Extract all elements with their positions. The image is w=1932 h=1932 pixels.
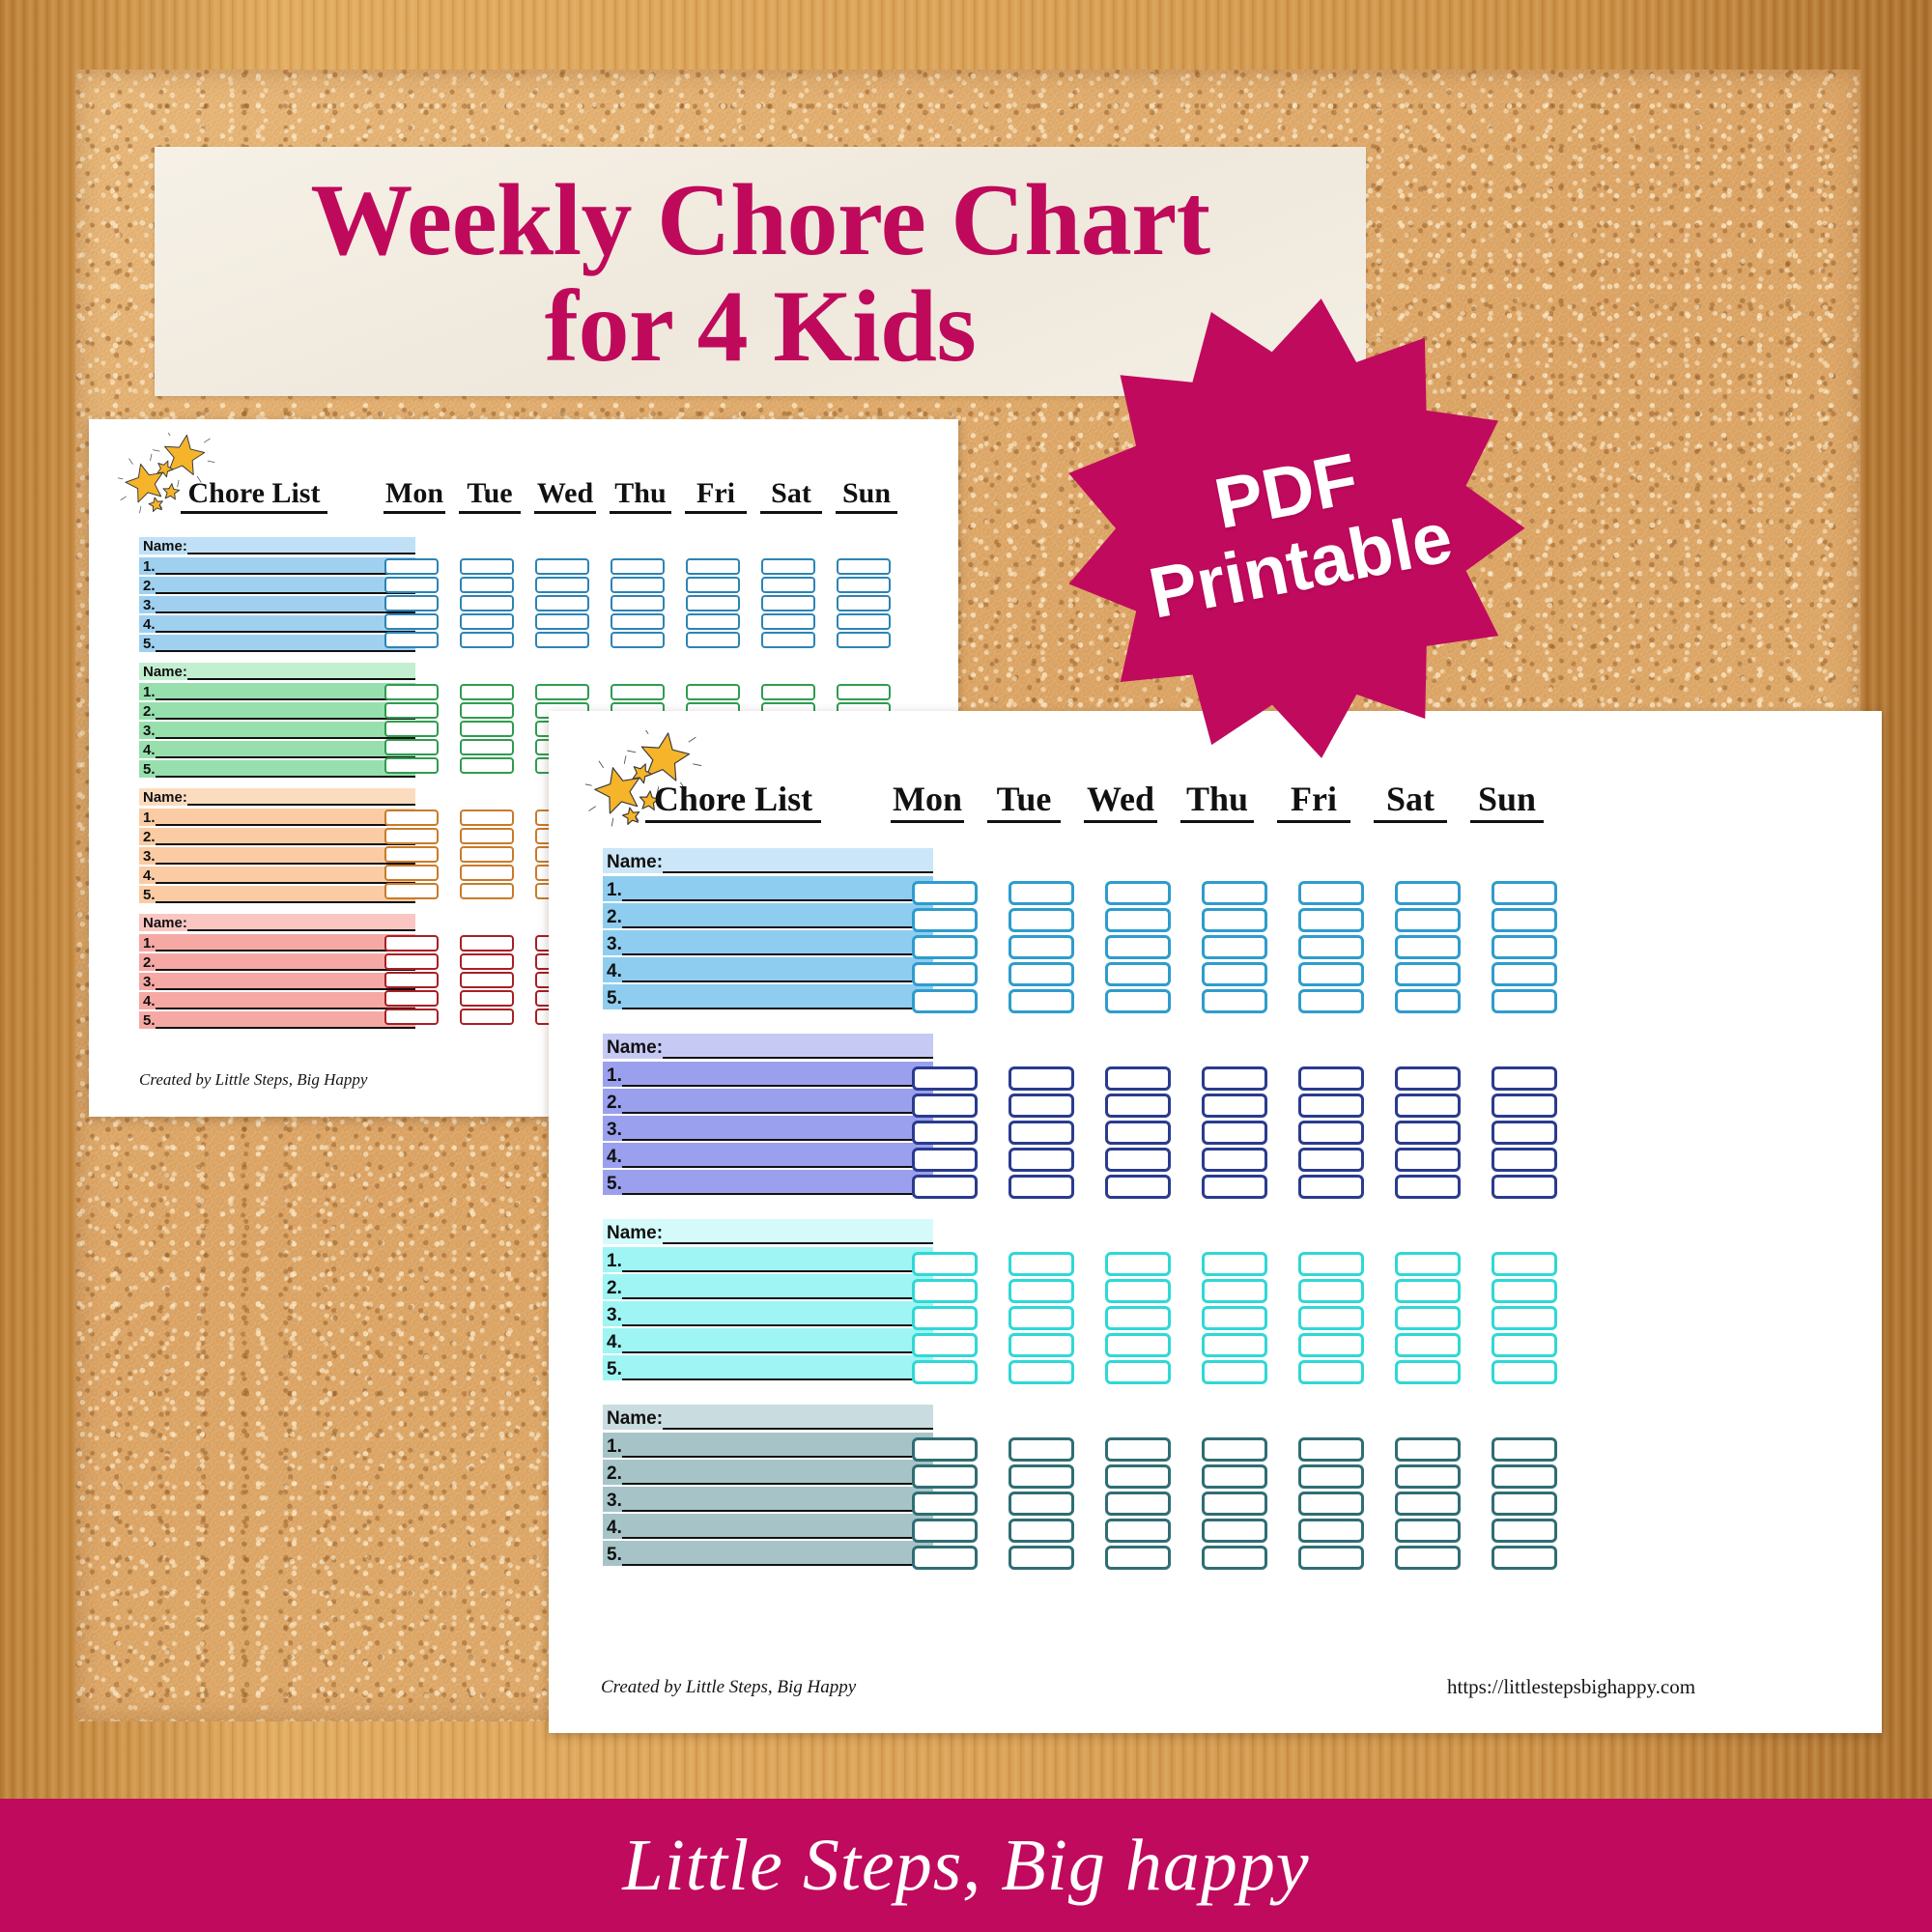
chore-checkbox[interactable] (912, 1175, 978, 1199)
chore-checkbox[interactable] (460, 684, 514, 700)
chore-checkbox[interactable] (1009, 1066, 1074, 1091)
chore-checkbox[interactable] (1298, 1148, 1364, 1172)
chore-checkbox[interactable] (1202, 881, 1267, 905)
chore-checkbox[interactable] (384, 990, 439, 1007)
chore-checkbox[interactable] (1202, 935, 1267, 959)
chore-checkbox[interactable] (1395, 1306, 1461, 1330)
name-write-line[interactable] (187, 553, 415, 554)
chore-checkbox[interactable] (1105, 1306, 1171, 1330)
chore-checkbox[interactable] (1105, 1464, 1171, 1489)
chore-checkbox[interactable] (1395, 1437, 1461, 1462)
chore-checkbox[interactable] (1395, 1175, 1461, 1199)
chore-write-line[interactable] (156, 843, 415, 845)
chore-checkbox[interactable] (1395, 935, 1461, 959)
chore-checkbox[interactable] (1105, 1279, 1171, 1303)
chore-checkbox[interactable] (1492, 1333, 1557, 1357)
chore-checkbox[interactable] (912, 1464, 978, 1489)
chore-checkbox[interactable] (611, 595, 665, 611)
chore-row[interactable]: 5. (139, 886, 415, 903)
chore-checkbox[interactable] (1105, 1094, 1171, 1118)
chore-checkbox[interactable] (837, 684, 891, 700)
chore-checkbox[interactable] (1492, 962, 1557, 986)
chore-checkbox[interactable] (535, 595, 589, 611)
chore-write-line[interactable] (156, 611, 415, 613)
chore-checkbox[interactable] (686, 558, 740, 575)
chore-checkbox[interactable] (1009, 1175, 1074, 1199)
chore-checkbox[interactable] (1202, 1175, 1267, 1199)
chore-checkbox[interactable] (384, 883, 439, 899)
chore-checkbox[interactable] (611, 558, 665, 575)
chore-write-line[interactable] (156, 631, 415, 633)
chore-checkbox[interactable] (837, 613, 891, 630)
chore-checkbox[interactable] (1298, 1094, 1364, 1118)
chore-checkbox[interactable] (1395, 1464, 1461, 1489)
chore-checkbox[interactable] (1202, 1148, 1267, 1172)
chore-checkbox[interactable] (1202, 1252, 1267, 1276)
chore-checkbox[interactable] (1105, 1492, 1171, 1516)
name-row[interactable]: Name: (139, 663, 415, 680)
name-row[interactable]: Name: (139, 914, 415, 931)
chore-write-line[interactable] (156, 901, 415, 903)
chore-row[interactable]: 5. (603, 1170, 933, 1195)
chore-row[interactable]: 1. (603, 1433, 933, 1458)
chore-checkbox[interactable] (1105, 1333, 1171, 1357)
chore-write-line[interactable] (156, 592, 415, 594)
chore-row[interactable]: 1. (139, 809, 415, 826)
name-row[interactable]: Name: (139, 537, 415, 554)
chore-checkbox[interactable] (460, 810, 514, 826)
chore-checkbox[interactable] (1009, 1464, 1074, 1489)
chore-checkbox[interactable] (912, 1121, 978, 1145)
chore-checkbox[interactable] (460, 953, 514, 970)
chore-checkbox[interactable] (460, 883, 514, 899)
chore-write-line[interactable] (622, 1324, 933, 1326)
chore-checkbox[interactable] (460, 632, 514, 648)
chore-checkbox[interactable] (1202, 1492, 1267, 1516)
chore-checkbox[interactable] (460, 721, 514, 737)
chore-checkbox[interactable] (1395, 1094, 1461, 1118)
chore-checkbox[interactable] (1492, 1519, 1557, 1543)
chore-row[interactable]: 1. (603, 1062, 933, 1087)
chore-checkbox[interactable] (1492, 1546, 1557, 1570)
chore-checkbox[interactable] (761, 558, 815, 575)
chore-checkbox[interactable] (837, 577, 891, 593)
chore-checkbox[interactable] (535, 577, 589, 593)
chore-checkbox[interactable] (1202, 1519, 1267, 1543)
chore-checkbox[interactable] (1395, 1546, 1461, 1570)
chore-row[interactable]: 2. (139, 828, 415, 845)
chore-checkbox[interactable] (912, 1546, 978, 1570)
chore-checkbox[interactable] (837, 632, 891, 648)
chore-row[interactable]: 4. (603, 1514, 933, 1539)
chore-checkbox[interactable] (1105, 1360, 1171, 1384)
chore-checkbox[interactable] (1105, 1546, 1171, 1570)
chore-checkbox[interactable] (384, 595, 439, 611)
chore-row[interactable]: 4. (139, 615, 415, 633)
chore-checkbox[interactable] (1009, 881, 1074, 905)
chore-row[interactable]: 1. (139, 683, 415, 700)
chore-row[interactable]: 1. (603, 1247, 933, 1272)
chore-checkbox[interactable] (1202, 1546, 1267, 1570)
chore-checkbox[interactable] (1105, 962, 1171, 986)
chore-checkbox[interactable] (912, 962, 978, 986)
chore-write-line[interactable] (156, 882, 415, 884)
chore-checkbox[interactable] (1395, 1066, 1461, 1091)
chore-row[interactable]: 2. (139, 953, 415, 971)
chore-checkbox[interactable] (912, 1066, 978, 1091)
chore-write-line[interactable] (622, 926, 933, 928)
chore-checkbox[interactable] (912, 1306, 978, 1330)
chore-write-line[interactable] (622, 1139, 933, 1141)
chore-checkbox[interactable] (1492, 908, 1557, 932)
chore-row[interactable]: 3. (139, 973, 415, 990)
chore-checkbox[interactable] (912, 908, 978, 932)
chore-checkbox[interactable] (686, 595, 740, 611)
chore-checkbox[interactable] (460, 990, 514, 1007)
name-write-line[interactable] (663, 871, 933, 873)
chore-checkbox[interactable] (1492, 1252, 1557, 1276)
chore-checkbox[interactable] (384, 739, 439, 755)
chore-checkbox[interactable] (1298, 1306, 1364, 1330)
chore-checkbox[interactable] (1009, 908, 1074, 932)
chore-checkbox[interactable] (761, 684, 815, 700)
chore-checkbox[interactable] (1105, 989, 1171, 1013)
chore-checkbox[interactable] (535, 558, 589, 575)
chore-checkbox[interactable] (1009, 1333, 1074, 1357)
name-write-line[interactable] (663, 1428, 933, 1430)
chore-checkbox[interactable] (686, 577, 740, 593)
chore-checkbox[interactable] (460, 577, 514, 593)
chore-checkbox[interactable] (1492, 1464, 1557, 1489)
chore-row[interactable]: 5. (603, 1355, 933, 1380)
name-row[interactable]: Name: (139, 788, 415, 806)
chore-write-line[interactable] (156, 969, 415, 971)
chore-row[interactable]: 2. (603, 1274, 933, 1299)
chore-checkbox[interactable] (1202, 1437, 1267, 1462)
chore-checkbox[interactable] (1395, 1360, 1461, 1384)
chore-checkbox[interactable] (1492, 1094, 1557, 1118)
chore-row[interactable]: 1. (603, 876, 933, 901)
chore-checkbox[interactable] (1492, 1148, 1557, 1172)
chore-checkbox[interactable] (761, 632, 815, 648)
chore-checkbox[interactable] (384, 935, 439, 952)
chore-checkbox[interactable] (1492, 1306, 1557, 1330)
chore-checkbox[interactable] (1395, 1519, 1461, 1543)
chore-checkbox[interactable] (1202, 908, 1267, 932)
chore-write-line[interactable] (156, 1008, 415, 1009)
chore-checkbox[interactable] (912, 1279, 978, 1303)
chore-checkbox[interactable] (1395, 1121, 1461, 1145)
chore-row[interactable]: 2. (139, 702, 415, 720)
chore-write-line[interactable] (156, 950, 415, 952)
chore-checkbox[interactable] (1009, 1519, 1074, 1543)
chore-row[interactable]: 4. (139, 992, 415, 1009)
chore-row[interactable]: 5. (139, 635, 415, 652)
chore-write-line[interactable] (156, 988, 415, 990)
chore-checkbox[interactable] (1492, 935, 1557, 959)
chore-checkbox[interactable] (1492, 1066, 1557, 1091)
chore-write-line[interactable] (622, 899, 933, 901)
chore-write-line[interactable] (156, 863, 415, 865)
chore-checkbox[interactable] (611, 632, 665, 648)
chore-checkbox[interactable] (1009, 1252, 1074, 1276)
chore-checkbox[interactable] (1105, 1066, 1171, 1091)
chore-checkbox[interactable] (1492, 1492, 1557, 1516)
chore-write-line[interactable] (156, 698, 415, 700)
chore-checkbox[interactable] (1009, 989, 1074, 1013)
chore-row[interactable]: 3. (139, 722, 415, 739)
chore-checkbox[interactable] (460, 846, 514, 863)
chore-checkbox[interactable] (1009, 1360, 1074, 1384)
chore-write-line[interactable] (156, 650, 415, 652)
chore-checkbox[interactable] (384, 684, 439, 700)
chore-chart-sheet-front[interactable]: Chore ListMonTueWedThuFriSatSun Name:1.2… (549, 711, 1882, 1733)
chore-checkbox[interactable] (1105, 908, 1171, 932)
chore-checkbox[interactable] (611, 577, 665, 593)
chore-checkbox[interactable] (1298, 989, 1364, 1013)
chore-checkbox[interactable] (686, 684, 740, 700)
chore-checkbox[interactable] (384, 558, 439, 575)
chore-row[interactable]: 4. (139, 741, 415, 758)
chore-checkbox[interactable] (611, 613, 665, 630)
chore-checkbox[interactable] (1395, 1279, 1461, 1303)
chore-checkbox[interactable] (912, 1148, 978, 1172)
chore-checkbox[interactable] (1395, 1252, 1461, 1276)
chore-checkbox[interactable] (1298, 1175, 1364, 1199)
name-write-line[interactable] (663, 1057, 933, 1059)
chore-checkbox[interactable] (1492, 1437, 1557, 1462)
chore-checkbox[interactable] (1202, 1464, 1267, 1489)
chore-checkbox[interactable] (1202, 1094, 1267, 1118)
chore-row[interactable]: 3. (603, 930, 933, 955)
chore-checkbox[interactable] (1009, 1492, 1074, 1516)
chore-checkbox[interactable] (611, 684, 665, 700)
chore-write-line[interactable] (622, 1112, 933, 1114)
chore-row[interactable]: 2. (603, 903, 933, 928)
chore-checkbox[interactable] (384, 757, 439, 774)
chore-checkbox[interactable] (384, 846, 439, 863)
chore-write-line[interactable] (622, 1456, 933, 1458)
chore-checkbox[interactable] (384, 810, 439, 826)
chore-checkbox[interactable] (460, 757, 514, 774)
chore-checkbox[interactable] (686, 613, 740, 630)
chore-write-line[interactable] (622, 1564, 933, 1566)
chore-checkbox[interactable] (912, 1360, 978, 1384)
chore-checkbox[interactable] (761, 577, 815, 593)
chore-checkbox[interactable] (460, 865, 514, 881)
chore-row[interactable]: 4. (139, 867, 415, 884)
name-row[interactable]: Name: (603, 1034, 933, 1059)
chore-checkbox[interactable] (1298, 1333, 1364, 1357)
chore-checkbox[interactable] (535, 632, 589, 648)
name-row[interactable]: Name: (603, 848, 933, 873)
chore-checkbox[interactable] (1105, 1121, 1171, 1145)
chore-write-line[interactable] (622, 1270, 933, 1272)
chore-checkbox[interactable] (384, 721, 439, 737)
chore-checkbox[interactable] (1298, 1519, 1364, 1543)
chore-checkbox[interactable] (1105, 1175, 1171, 1199)
chore-checkbox[interactable] (1009, 1279, 1074, 1303)
chore-checkbox[interactable] (1395, 962, 1461, 986)
chore-write-line[interactable] (622, 1510, 933, 1512)
chore-checkbox[interactable] (1395, 989, 1461, 1013)
chore-checkbox[interactable] (1105, 1148, 1171, 1172)
chore-checkbox[interactable] (761, 613, 815, 630)
chore-checkbox[interactable] (1202, 1121, 1267, 1145)
chore-checkbox[interactable] (384, 972, 439, 988)
chore-checkbox[interactable] (460, 558, 514, 575)
chore-checkbox[interactable] (837, 595, 891, 611)
chore-checkbox[interactable] (1395, 1492, 1461, 1516)
name-row[interactable]: Name: (603, 1219, 933, 1244)
chore-row[interactable]: 2. (139, 577, 415, 594)
chore-row[interactable]: 5. (603, 1541, 933, 1566)
chore-checkbox[interactable] (1298, 1360, 1364, 1384)
chore-checkbox[interactable] (460, 1009, 514, 1025)
sheet-front-site-url[interactable]: https://littlestepsbighappy.com (1447, 1675, 1695, 1699)
chore-checkbox[interactable] (1009, 1546, 1074, 1570)
name-write-line[interactable] (187, 929, 415, 931)
chore-row[interactable]: 4. (603, 1143, 933, 1168)
chore-row[interactable]: 5. (139, 1011, 415, 1029)
chore-row[interactable]: 1. (139, 934, 415, 952)
chore-checkbox[interactable] (1395, 908, 1461, 932)
chore-checkbox[interactable] (1492, 1360, 1557, 1384)
chore-checkbox[interactable] (384, 953, 439, 970)
chore-checkbox[interactable] (384, 577, 439, 593)
chore-checkbox[interactable] (1492, 1175, 1557, 1199)
chore-checkbox[interactable] (837, 558, 891, 575)
chore-write-line[interactable] (156, 756, 415, 758)
chore-checkbox[interactable] (1105, 1437, 1171, 1462)
chore-write-line[interactable] (622, 953, 933, 955)
chore-checkbox[interactable] (912, 1519, 978, 1543)
chore-checkbox[interactable] (460, 595, 514, 611)
chore-row[interactable]: 3. (603, 1487, 933, 1512)
chore-checkbox[interactable] (1298, 1546, 1364, 1570)
chore-checkbox[interactable] (1298, 1437, 1364, 1462)
chore-write-line[interactable] (622, 980, 933, 982)
chore-checkbox[interactable] (1202, 1066, 1267, 1091)
chore-write-line[interactable] (156, 573, 415, 575)
chore-checkbox[interactable] (1105, 1519, 1171, 1543)
chore-checkbox[interactable] (384, 702, 439, 719)
chore-write-line[interactable] (156, 776, 415, 778)
chore-checkbox[interactable] (460, 739, 514, 755)
chore-checkbox[interactable] (535, 684, 589, 700)
chore-checkbox[interactable] (912, 1437, 978, 1462)
chore-row[interactable]: 3. (603, 1116, 933, 1141)
chore-checkbox[interactable] (1202, 1360, 1267, 1384)
chore-checkbox[interactable] (460, 972, 514, 988)
chore-checkbox[interactable] (460, 613, 514, 630)
chore-checkbox[interactable] (1298, 1464, 1364, 1489)
chore-checkbox[interactable] (1009, 1437, 1074, 1462)
chore-row[interactable]: 3. (603, 1301, 933, 1326)
chore-checkbox[interactable] (384, 632, 439, 648)
chore-checkbox[interactable] (912, 1492, 978, 1516)
chore-write-line[interactable] (156, 1027, 415, 1029)
chore-row[interactable]: 5. (603, 984, 933, 1009)
chore-write-line[interactable] (622, 1085, 933, 1087)
chore-checkbox[interactable] (1395, 1148, 1461, 1172)
chore-checkbox[interactable] (1009, 935, 1074, 959)
chore-write-line[interactable] (622, 1193, 933, 1195)
chore-checkbox[interactable] (535, 613, 589, 630)
chore-checkbox[interactable] (1492, 1121, 1557, 1145)
name-write-line[interactable] (663, 1242, 933, 1244)
chore-write-line[interactable] (156, 824, 415, 826)
chore-checkbox[interactable] (1105, 935, 1171, 959)
chore-row[interactable]: 4. (603, 1328, 933, 1353)
chore-checkbox[interactable] (912, 881, 978, 905)
chore-checkbox[interactable] (1298, 935, 1364, 959)
chore-checkbox[interactable] (912, 1094, 978, 1118)
chore-write-line[interactable] (622, 1297, 933, 1299)
name-write-line[interactable] (187, 678, 415, 680)
chore-write-line[interactable] (622, 1537, 933, 1539)
chore-write-line[interactable] (622, 1351, 933, 1353)
chore-checkbox[interactable] (1009, 1094, 1074, 1118)
chore-checkbox[interactable] (1395, 881, 1461, 905)
chore-checkbox[interactable] (912, 935, 978, 959)
chore-checkbox[interactable] (1202, 1279, 1267, 1303)
chore-checkbox[interactable] (1009, 1148, 1074, 1172)
chore-checkbox[interactable] (1492, 881, 1557, 905)
chore-checkbox[interactable] (1105, 1252, 1171, 1276)
chore-checkbox[interactable] (1298, 1121, 1364, 1145)
chore-checkbox[interactable] (384, 1009, 439, 1025)
chore-write-line[interactable] (622, 1008, 933, 1009)
chore-checkbox[interactable] (912, 989, 978, 1013)
chore-checkbox[interactable] (1298, 962, 1364, 986)
chore-checkbox[interactable] (1492, 989, 1557, 1013)
chore-row[interactable]: 3. (139, 596, 415, 613)
chore-checkbox[interactable] (460, 935, 514, 952)
chore-checkbox[interactable] (460, 828, 514, 844)
chore-checkbox[interactable] (1298, 1492, 1364, 1516)
chore-checkbox[interactable] (1105, 881, 1171, 905)
chore-row[interactable]: 2. (603, 1089, 933, 1114)
chore-checkbox[interactable] (1492, 1279, 1557, 1303)
chore-write-line[interactable] (622, 1378, 933, 1380)
chore-row[interactable]: 2. (603, 1460, 933, 1485)
name-row[interactable]: Name: (603, 1405, 933, 1430)
chore-write-line[interactable] (622, 1483, 933, 1485)
chore-checkbox[interactable] (1009, 1121, 1074, 1145)
chore-checkbox[interactable] (1202, 1333, 1267, 1357)
chore-checkbox[interactable] (761, 595, 815, 611)
chore-row[interactable]: 3. (139, 847, 415, 865)
chore-checkbox[interactable] (1298, 1066, 1364, 1091)
chore-checkbox[interactable] (460, 702, 514, 719)
chore-checkbox[interactable] (1298, 881, 1364, 905)
chore-row[interactable]: 4. (603, 957, 933, 982)
chore-checkbox[interactable] (384, 613, 439, 630)
chore-checkbox[interactable] (1298, 1252, 1364, 1276)
chore-row[interactable]: 1. (139, 557, 415, 575)
chore-checkbox[interactable] (384, 828, 439, 844)
chore-checkbox[interactable] (912, 1252, 978, 1276)
chore-row[interactable]: 5. (139, 760, 415, 778)
chore-write-line[interactable] (156, 718, 415, 720)
chore-checkbox[interactable] (1202, 962, 1267, 986)
chore-checkbox[interactable] (1298, 908, 1364, 932)
chore-checkbox[interactable] (686, 632, 740, 648)
chore-checkbox[interactable] (1202, 1306, 1267, 1330)
chore-checkbox[interactable] (1298, 1279, 1364, 1303)
chore-write-line[interactable] (622, 1166, 933, 1168)
